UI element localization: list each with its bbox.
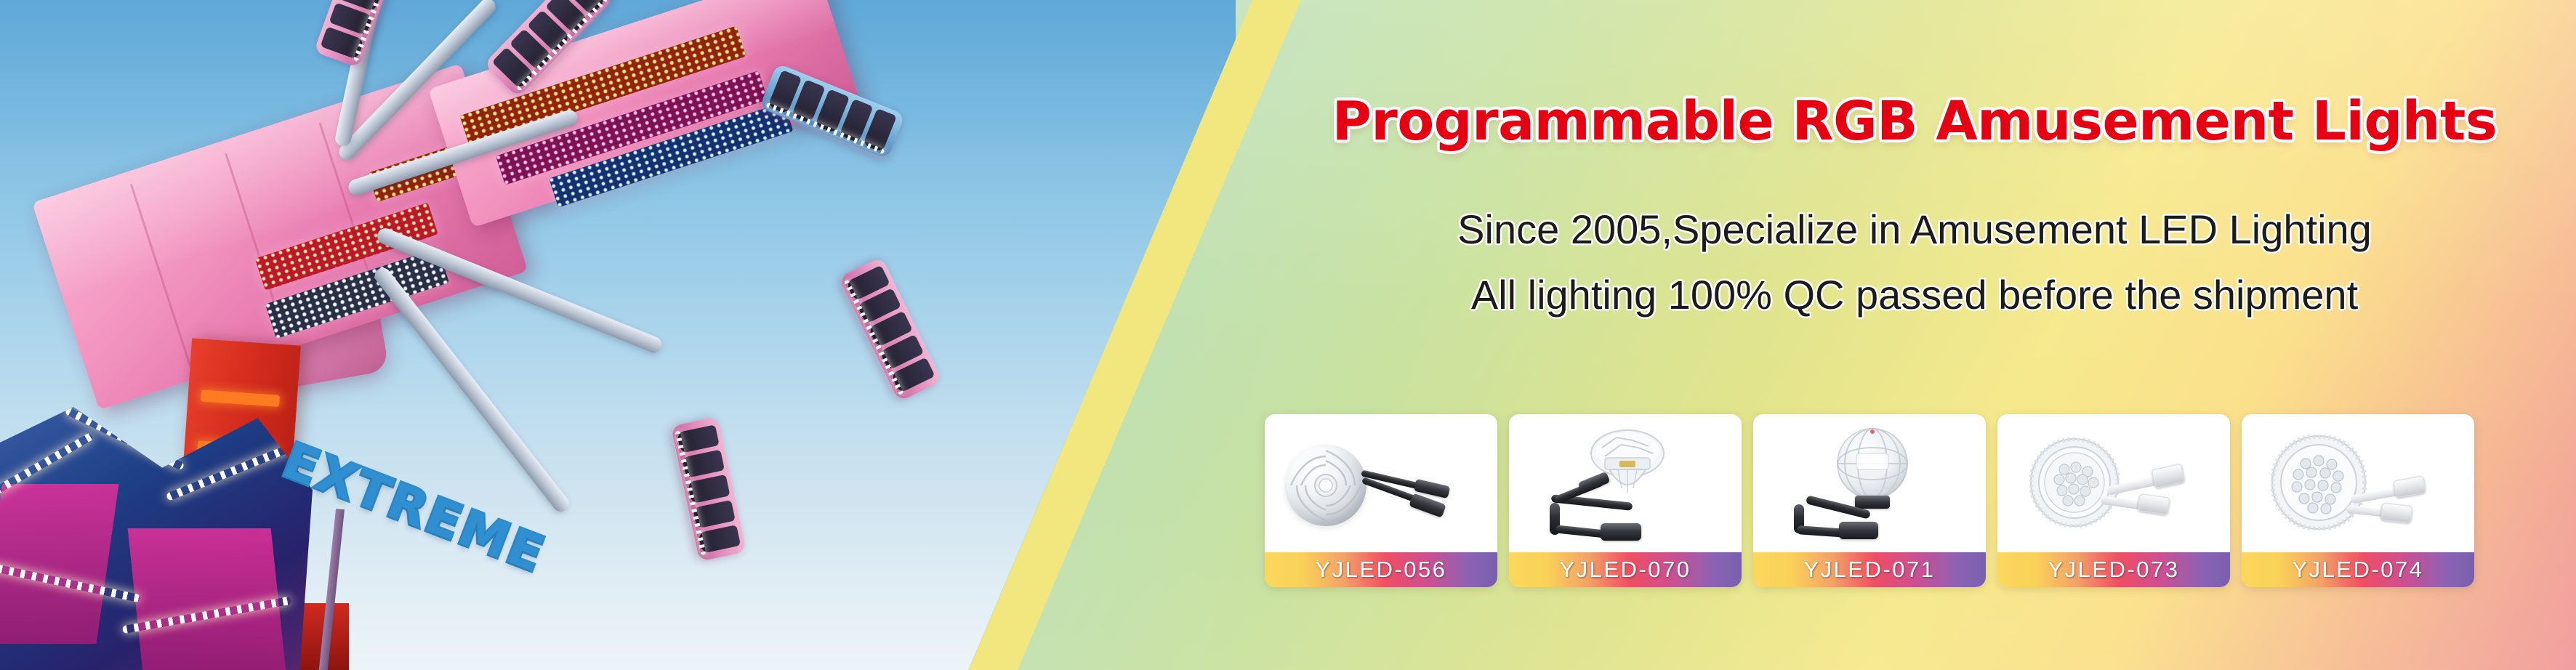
led-pixel-swirl-lens-icon <box>1265 414 1497 552</box>
flat-cluster-lens <box>2271 435 2367 530</box>
product-image <box>2242 414 2474 552</box>
subtitle-line-2: All lighting 100% QC passed before the s… <box>1282 275 2547 315</box>
product-card[interactable]: YJLED-071 <box>1753 414 1986 587</box>
product-card[interactable]: YJLED-056 <box>1265 414 1497 587</box>
extreme-sign-text: EXTREME <box>275 432 552 585</box>
swirl-lens-pattern <box>1285 445 1367 526</box>
led-round-flat-cluster-lamp-icon <box>2242 414 2474 552</box>
promotional-banner: EXTREME Programmable RGB Amusement Light… <box>0 0 2576 670</box>
product-image <box>1265 414 1497 552</box>
pod-seats <box>677 424 741 554</box>
led-ball-lamp-icon <box>1753 414 1986 552</box>
facade-panel <box>127 528 286 670</box>
round-cluster-lens <box>2029 437 2120 528</box>
ball-lens <box>1835 426 1910 501</box>
product-image <box>1509 414 1742 552</box>
product-code-label: YJLED-070 <box>1509 552 1742 587</box>
product-image <box>1753 414 1986 552</box>
product-code-label: YJLED-071 <box>1753 552 1986 587</box>
product-card-list: YJLED-056 <box>1265 414 2576 587</box>
product-card[interactable]: YJLED-074 <box>2242 414 2474 587</box>
promo-content: Programmable RGB Amusement Lights Since … <box>1265 0 2576 670</box>
ride-seat-pod <box>839 257 943 402</box>
product-card[interactable]: YJLED-073 <box>1997 414 2230 587</box>
subtitle-line-1: Since 2005,Specialize in Amusement LED L… <box>1282 209 2547 250</box>
product-code-label: YJLED-074 <box>2242 552 2474 587</box>
facade-panel <box>0 484 118 644</box>
mushroom-lens <box>1587 429 1667 504</box>
headline-title: Programmable RGB Amusement Lights <box>1282 94 2547 148</box>
product-card[interactable]: YJLED-070 <box>1509 414 1742 587</box>
product-code-label: YJLED-056 <box>1265 552 1497 587</box>
tower-light <box>201 390 280 406</box>
ride-seat-pod <box>671 416 746 562</box>
park-facade <box>0 407 313 670</box>
ride-seat-pod <box>313 0 406 68</box>
product-code-label: YJLED-073 <box>1997 552 2230 587</box>
led-round-cluster-lamp-icon <box>1997 414 2230 552</box>
led-mushroom-lamp-icon <box>1509 414 1742 552</box>
product-image <box>1997 414 2230 552</box>
